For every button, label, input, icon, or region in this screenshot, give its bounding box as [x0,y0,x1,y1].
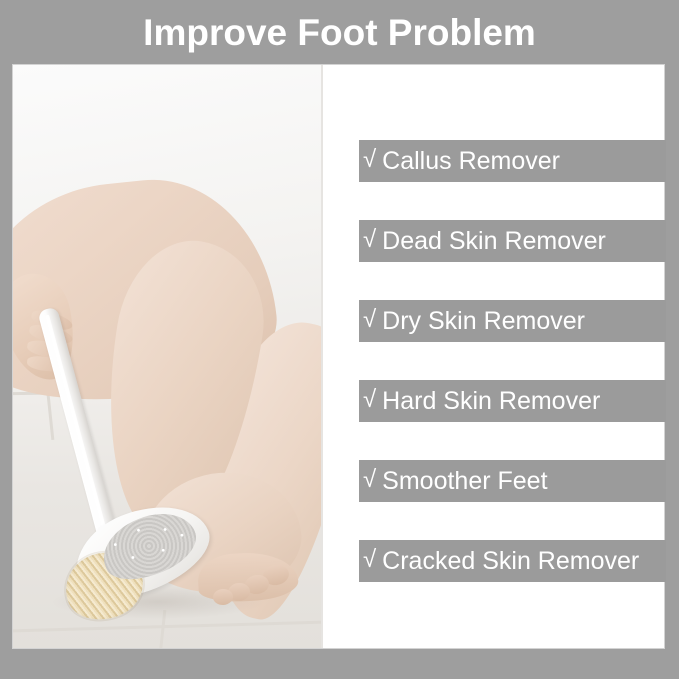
check-icon: √ [363,308,376,332]
feature-item-hard-skin-remover[interactable]: √ Hard Skin Remover [359,380,666,422]
feature-item-cracked-skin-remover[interactable]: √ Cracked Skin Remover [359,540,666,582]
feature-item-callus-remover[interactable]: √ Callus Remover [359,140,666,182]
feature-item-dead-skin-remover[interactable]: √ Dead Skin Remover [359,220,666,262]
check-icon: √ [363,388,376,412]
product-photo [13,65,323,648]
check-icon: √ [363,468,376,492]
feature-label: Smoother Feet [382,469,547,494]
feature-panel: √ Callus Remover √ Dead Skin Remover √ D… [323,65,664,648]
content-card: √ Callus Remover √ Dead Skin Remover √ D… [13,65,664,648]
feature-label: Callus Remover [382,149,560,174]
page-title: Improve Foot Problem [0,11,679,59]
feature-label: Cracked Skin Remover [382,549,639,574]
feature-label: Dry Skin Remover [382,309,585,334]
check-icon: √ [363,228,376,252]
check-icon: √ [363,548,376,572]
feature-item-dry-skin-remover[interactable]: √ Dry Skin Remover [359,300,666,342]
feature-item-smoother-feet[interactable]: √ Smoother Feet [359,460,666,502]
feature-label: Dead Skin Remover [382,229,606,254]
check-icon: √ [363,148,376,172]
feature-label: Hard Skin Remover [382,389,600,414]
feature-list: √ Callus Remover √ Dead Skin Remover √ D… [359,140,666,582]
